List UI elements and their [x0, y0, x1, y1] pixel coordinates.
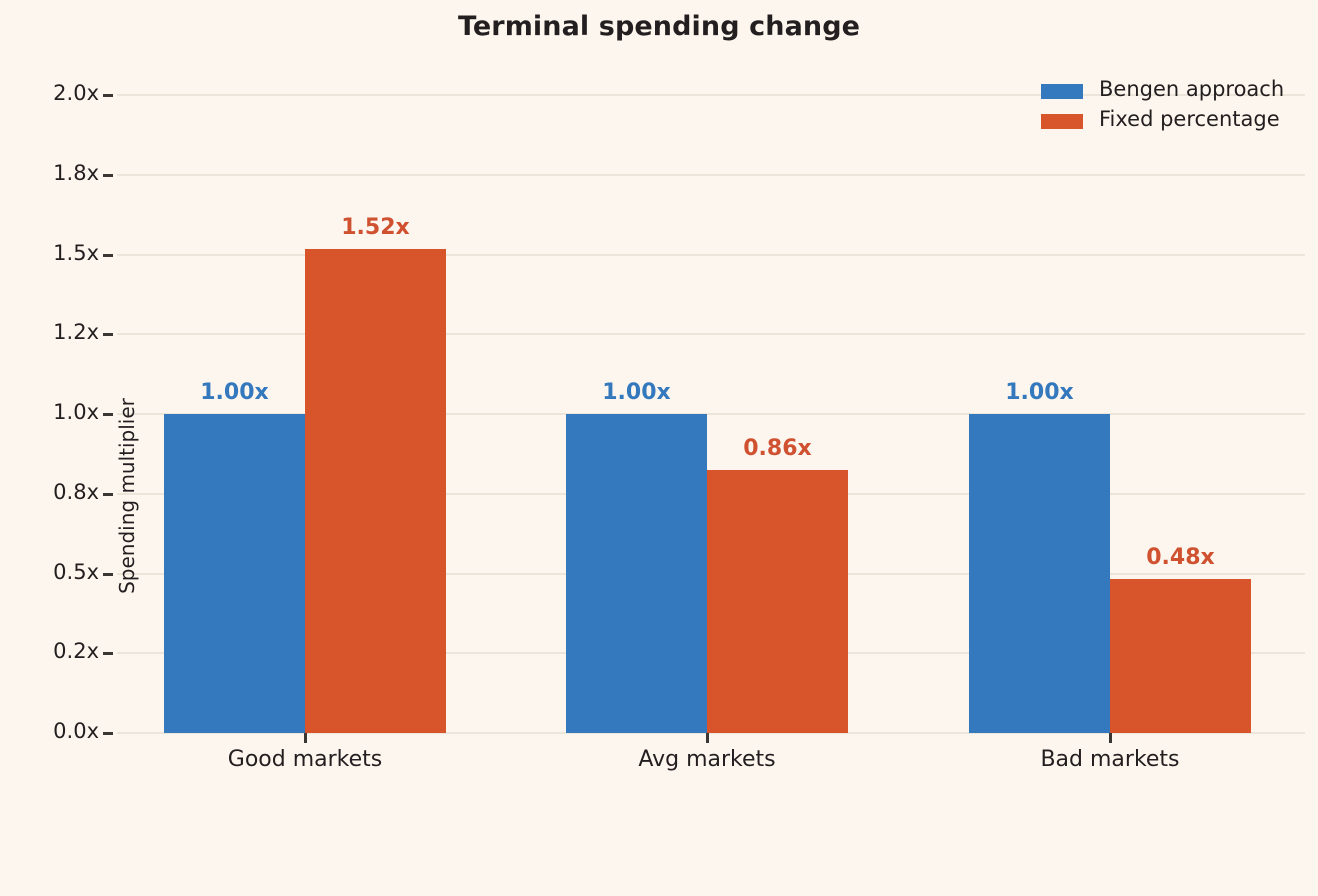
bar-fixed[interactable]	[1110, 579, 1251, 733]
y-tick-label: 0.0x	[0, 719, 99, 743]
y-tick-label: 0.5x	[0, 560, 99, 584]
chart-figure: Terminal spending change 2.0x1.8x1.5x1.2…	[0, 0, 1318, 788]
legend-label-bengen: Bengen approach	[1099, 77, 1284, 101]
chart-title: Terminal spending change	[0, 11, 1318, 42]
legend-label-fixed: Fixed percentage	[1099, 107, 1280, 131]
x-tick-label: Bad markets	[950, 747, 1270, 772]
x-tick-mark	[304, 733, 307, 743]
y-tick-label: 1.5x	[0, 241, 99, 265]
y-tick-mark	[103, 333, 113, 336]
gridline	[117, 333, 1305, 335]
legend-swatch-fixed	[1041, 114, 1083, 129]
y-tick-label: 1.0x	[0, 400, 99, 424]
bar-bengen[interactable]	[969, 414, 1110, 733]
bar-fixed[interactable]	[707, 470, 848, 733]
y-tick-label: 2.0x	[0, 81, 99, 105]
y-tick-mark	[103, 254, 113, 257]
legend-swatch-bengen	[1041, 84, 1083, 99]
y-tick-label: 0.8x	[0, 480, 99, 504]
y-tick-mark	[103, 174, 113, 177]
y-tick-mark	[103, 413, 113, 416]
bar-value-label: 1.00x	[507, 380, 767, 405]
plot-area: 2.0x1.8x1.5x1.2x1.0x0.8x0.5x0.2x0.0x 1.0…	[117, 95, 1305, 733]
x-tick-mark	[706, 733, 709, 743]
bar-value-label: 0.48x	[1051, 545, 1311, 570]
y-tick-mark	[103, 493, 113, 496]
y-tick-label: 1.8x	[0, 161, 99, 185]
y-tick-mark	[103, 94, 113, 97]
y-tick-mark	[103, 732, 113, 735]
y-tick-label: 1.2x	[0, 320, 99, 344]
y-tick-mark	[103, 573, 113, 576]
bar-value-label: 0.86x	[648, 436, 908, 461]
y-tick-mark	[103, 652, 113, 655]
bar-bengen[interactable]	[566, 414, 707, 733]
x-tick-label: Avg markets	[547, 747, 867, 772]
bar-bengen[interactable]	[164, 414, 305, 733]
x-tick-label: Good markets	[145, 747, 465, 772]
y-axis-label: Spending multiplier	[115, 96, 139, 896]
x-tick-mark	[1109, 733, 1112, 743]
gridline	[117, 254, 1305, 256]
gridline	[117, 174, 1305, 176]
bar-fixed[interactable]	[305, 249, 446, 733]
y-tick-label: 0.2x	[0, 639, 99, 663]
bar-value-label: 1.52x	[246, 215, 506, 240]
bar-value-label: 1.00x	[910, 380, 1170, 405]
